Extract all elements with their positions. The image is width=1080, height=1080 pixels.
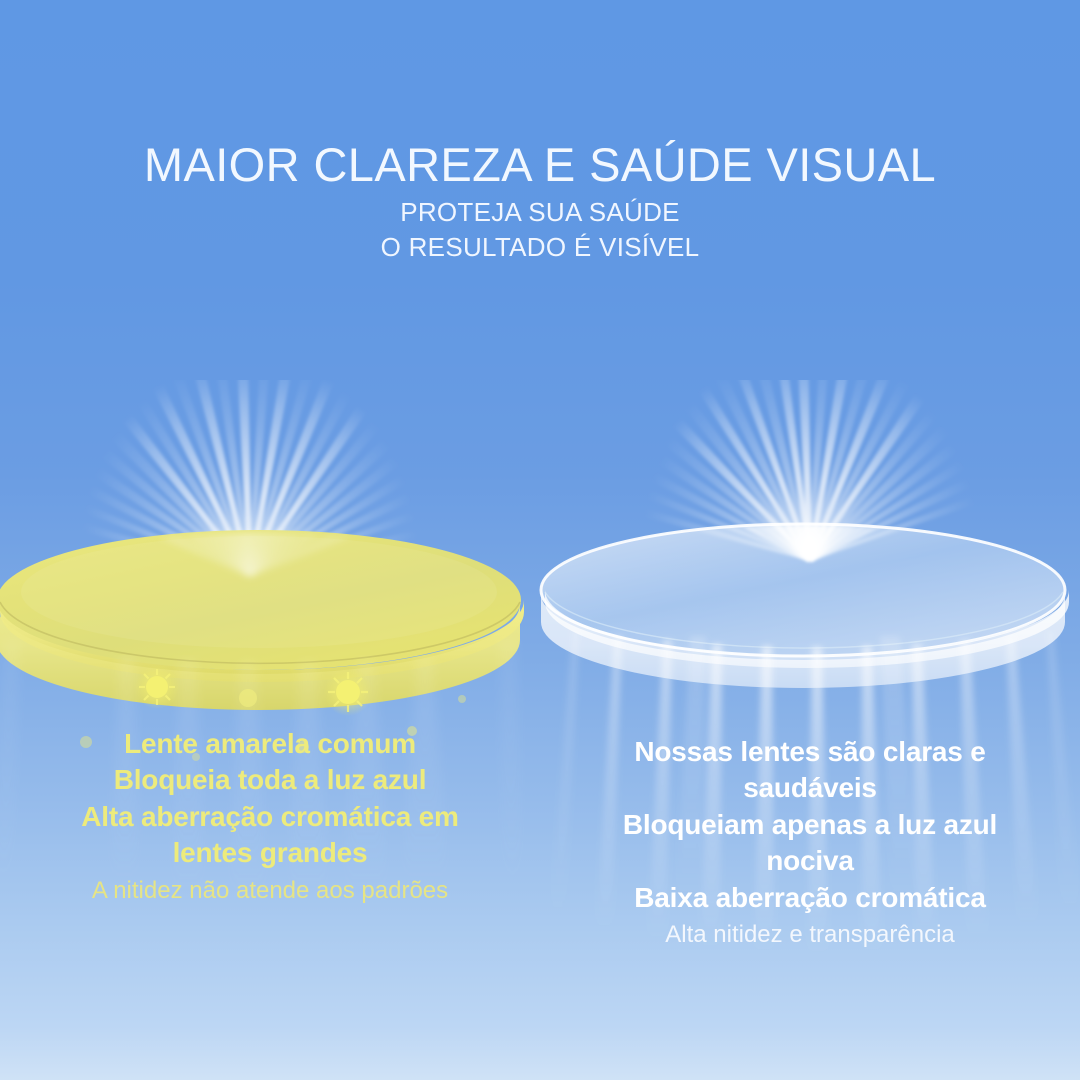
sun-sparkle [324, 668, 372, 716]
left-feature-line-2: Bloqueia toda a luz azul [12, 762, 528, 798]
left-feature-line-4: lentes grandes [12, 835, 528, 871]
right-feature-line-2: saudáveis [552, 770, 1068, 806]
left-feature-line-3: Alta aberração cromática em [12, 799, 528, 835]
column-common-yellow-lens: Lente amarela comum Bloqueia toda a luz … [0, 726, 540, 951]
left-note: A nitidez não atende aos padrões [12, 875, 528, 907]
right-note: Alta nitidez e transparência [552, 919, 1068, 951]
left-feature-line-1: Lente amarela comum [12, 726, 528, 762]
promo-banner: MAIOR CLAREZA E SAÚDE VISUAL PROTEJA SUA… [0, 0, 1080, 1080]
right-feature-line-4: nociva [552, 843, 1068, 879]
sun-dot [458, 695, 466, 703]
column-our-clear-lens: Nossas lentes são claras e saudáveis Blo… [540, 726, 1080, 951]
header-block: MAIOR CLAREZA E SAÚDE VISUAL PROTEJA SUA… [0, 0, 1080, 265]
subtitle-line-2: O RESULTADO É VISÍVEL [0, 230, 1080, 265]
right-feature-line-5: Baixa aberração cromática [552, 880, 1068, 916]
page-title: MAIOR CLAREZA E SAÚDE VISUAL [0, 140, 1080, 189]
sun-dot [239, 689, 257, 707]
sun-sparkle [135, 665, 179, 709]
subtitle-line-1: PROTEJA SUA SAÚDE [0, 195, 1080, 230]
right-feature-line-3: Bloqueiam apenas a luz azul [552, 807, 1068, 843]
right-feature-line-1: Nossas lentes são claras e [552, 734, 1068, 770]
comparison-columns: Lente amarela comum Bloqueia toda a luz … [0, 726, 1080, 951]
